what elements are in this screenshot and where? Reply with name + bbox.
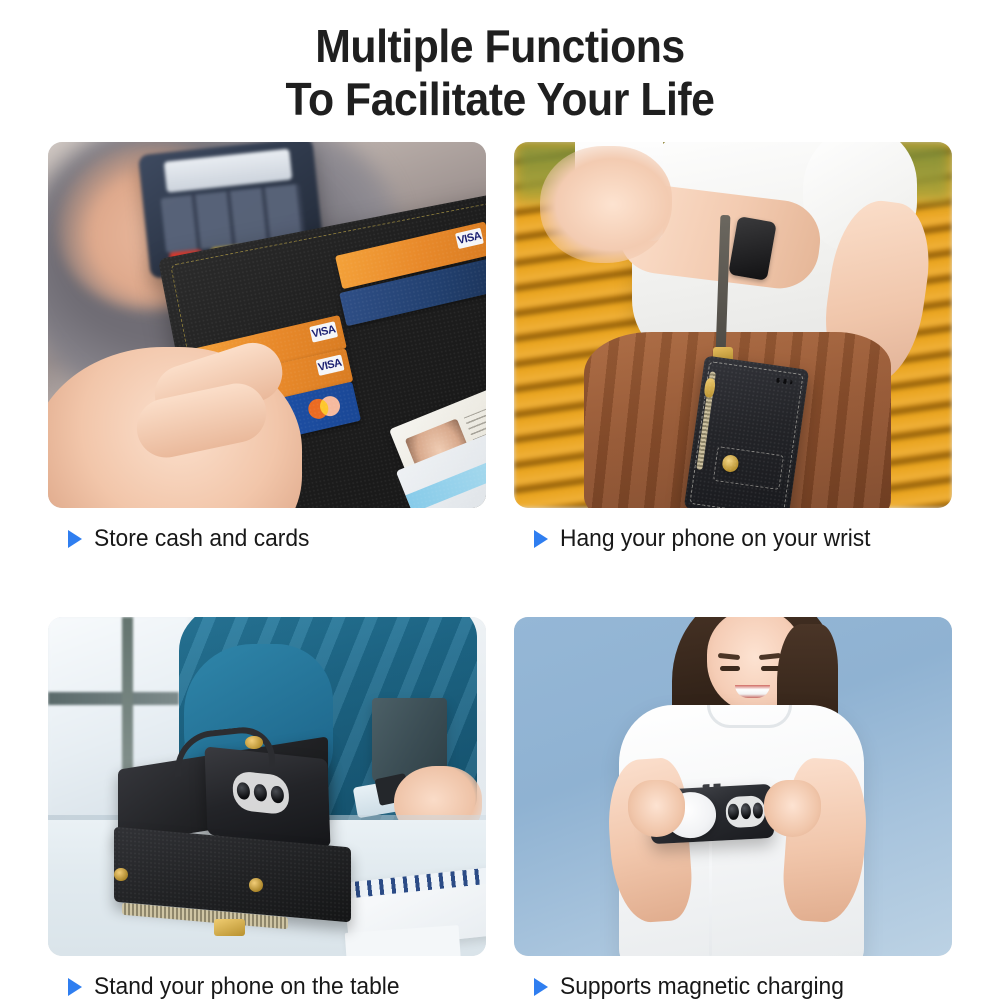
photo-supports-magnetic-charging [514,617,952,956]
caption-text: Supports magnetic charging [560,975,844,999]
photo3-camera-lens-2 [254,783,267,801]
triangle-right-icon [534,978,548,996]
photo4-tshirt-collar [707,705,792,728]
title-line-2: To Facilitate Your Life [35,73,965,126]
photo4-right-hand [764,780,821,838]
photo3-camera-lens-3 [271,785,284,803]
page-title: Multiple Functions To Facilitate Your Li… [0,20,1000,127]
triangle-right-icon [534,530,548,548]
photo-stand-phone-on-table [48,617,486,956]
photo1-id-card-photo [389,376,486,508]
photo3-rivet-right [249,878,263,892]
feature-card-stand-phone-on-table: Stand your phone on the table [48,617,486,999]
photo2-left-hand [540,146,671,263]
photo3-camera-module [232,770,290,815]
feature-card-store-cash-and-cards: VISA VISA VISA [48,142,486,551]
photo1-mc-circle-right [318,393,342,417]
photo4-camera-lens-1 [728,803,739,820]
triangle-right-icon [68,978,82,996]
photo2-snap-button [720,454,739,473]
photo4-camera-module [725,795,766,828]
photo2-wallet-case [683,355,808,508]
caption-supports-magnetic-charging: Supports magnetic charging [514,975,952,999]
photo2-snap-tab [713,445,784,490]
caption-text: Stand your phone on the table [94,975,400,999]
photo1-mc-circle-left [306,396,330,420]
photo1-id-text-lines [464,395,486,479]
photo1-navy-card [339,256,486,325]
feature-card-hang-phone-on-wrist: Hang your phone on your wrist [514,142,952,551]
photo4-side-buttons [702,783,724,788]
photo2-wallet-stitching [689,360,803,508]
photo1-visa-logo-1: VISA [309,321,338,342]
photo1-license-band [405,445,486,508]
triangle-right-icon [68,530,82,548]
photo1-visa-logo-2: VISA [315,354,344,375]
feature-card-supports-magnetic-charging: Supports magnetic charging [514,617,952,999]
photo3-strap-snap [245,736,263,750]
photo1-visa-logo-3: VISA [455,227,484,248]
photo3-camera-lens-1 [237,781,250,799]
photo4-camera-lens-3 [752,802,763,819]
caption-stand-phone-on-table: Stand your phone on the table [48,975,486,999]
photo3-window-frame-horizontal [48,692,179,706]
photo4-charging-cable [709,834,712,956]
photo2-camera-cutouts [775,377,792,384]
feature-grid: VISA VISA VISA [48,142,952,999]
photo3-rivet-left [114,868,128,882]
photo3-zipper-pull [214,919,245,936]
photo1-mastercard-logo [306,393,344,420]
caption-store-cash-and-cards: Store cash and cards [48,527,486,551]
caption-hang-phone-on-wrist: Hang your phone on your wrist [514,527,952,551]
photo4-camera-lens-2 [740,802,751,819]
photo4-left-hand [628,780,685,838]
photo-store-cash-and-cards: VISA VISA VISA [48,142,486,508]
caption-text: Store cash and cards [94,527,309,551]
photo1-drivers-license [395,421,486,508]
photo1-visa-card-3: VISA [335,221,486,289]
photo2-zipper-pull [703,377,715,398]
photo1-id-portrait [405,417,481,498]
caption-text: Hang your phone on your wrist [560,527,871,551]
photo4-eye-left [720,666,740,670]
photo-hang-phone-on-wrist [514,142,952,508]
title-line-1: Multiple Functions [35,20,965,73]
